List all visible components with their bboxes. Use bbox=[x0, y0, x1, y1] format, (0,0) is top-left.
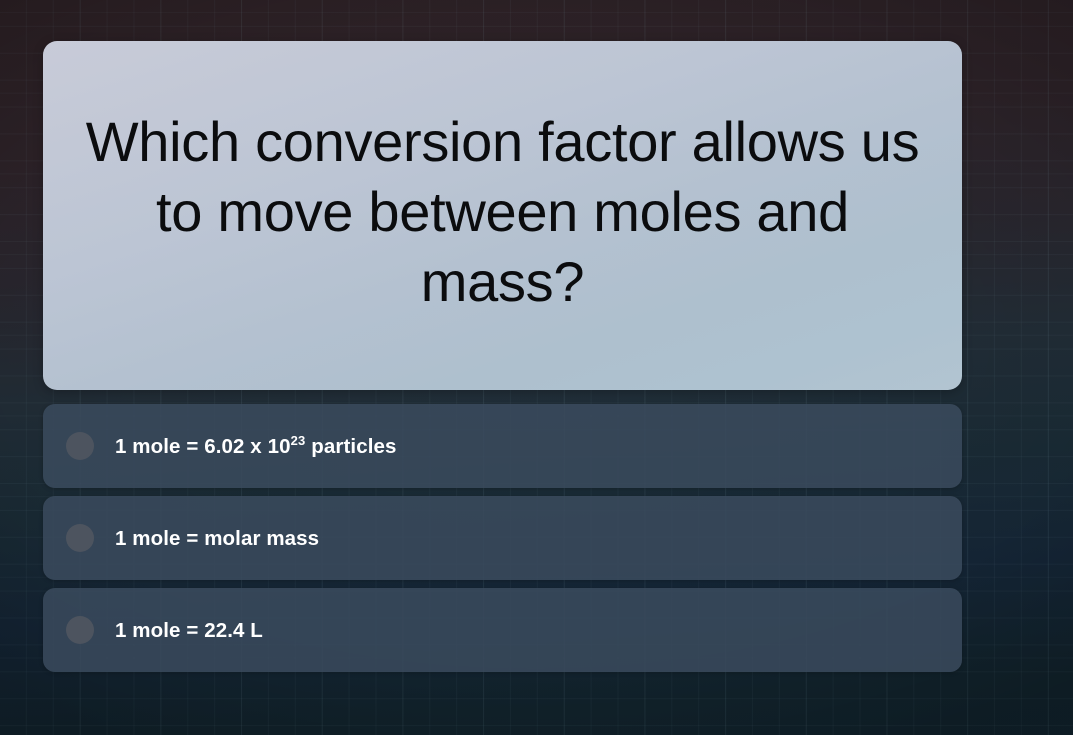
question-text: Which conversion factor allows us to mov… bbox=[79, 107, 926, 317]
answer-option-label: 1 mole = molar mass bbox=[115, 525, 319, 551]
answer-options-list: 1 mole = 6.02 x 1023 particles 1 mole = … bbox=[43, 404, 962, 672]
answer-option-text-main: 1 mole = 6.02 x 10 bbox=[115, 435, 291, 458]
answer-option-text-main: 1 mole = molar mass bbox=[115, 527, 319, 550]
radio-button-icon[interactable] bbox=[66, 616, 94, 644]
quiz-content: Which conversion factor allows us to mov… bbox=[43, 41, 962, 672]
answer-option-2[interactable]: 1 mole = molar mass bbox=[43, 496, 962, 580]
answer-option-superscript: 23 bbox=[291, 433, 306, 448]
answer-option-text-main: 1 mole = 22.4 L bbox=[115, 619, 263, 642]
answer-option-label: 1 mole = 6.02 x 1023 particles bbox=[115, 433, 397, 459]
radio-button-icon[interactable] bbox=[66, 524, 94, 552]
answer-option-3[interactable]: 1 mole = 22.4 L bbox=[43, 588, 962, 672]
radio-button-icon[interactable] bbox=[66, 432, 94, 460]
quiz-screen: Which conversion factor allows us to mov… bbox=[0, 0, 1073, 735]
question-card: Which conversion factor allows us to mov… bbox=[43, 41, 962, 390]
answer-option-1[interactable]: 1 mole = 6.02 x 1023 particles bbox=[43, 404, 962, 488]
answer-option-text-tail: particles bbox=[305, 435, 396, 458]
answer-option-label: 1 mole = 22.4 L bbox=[115, 617, 263, 643]
